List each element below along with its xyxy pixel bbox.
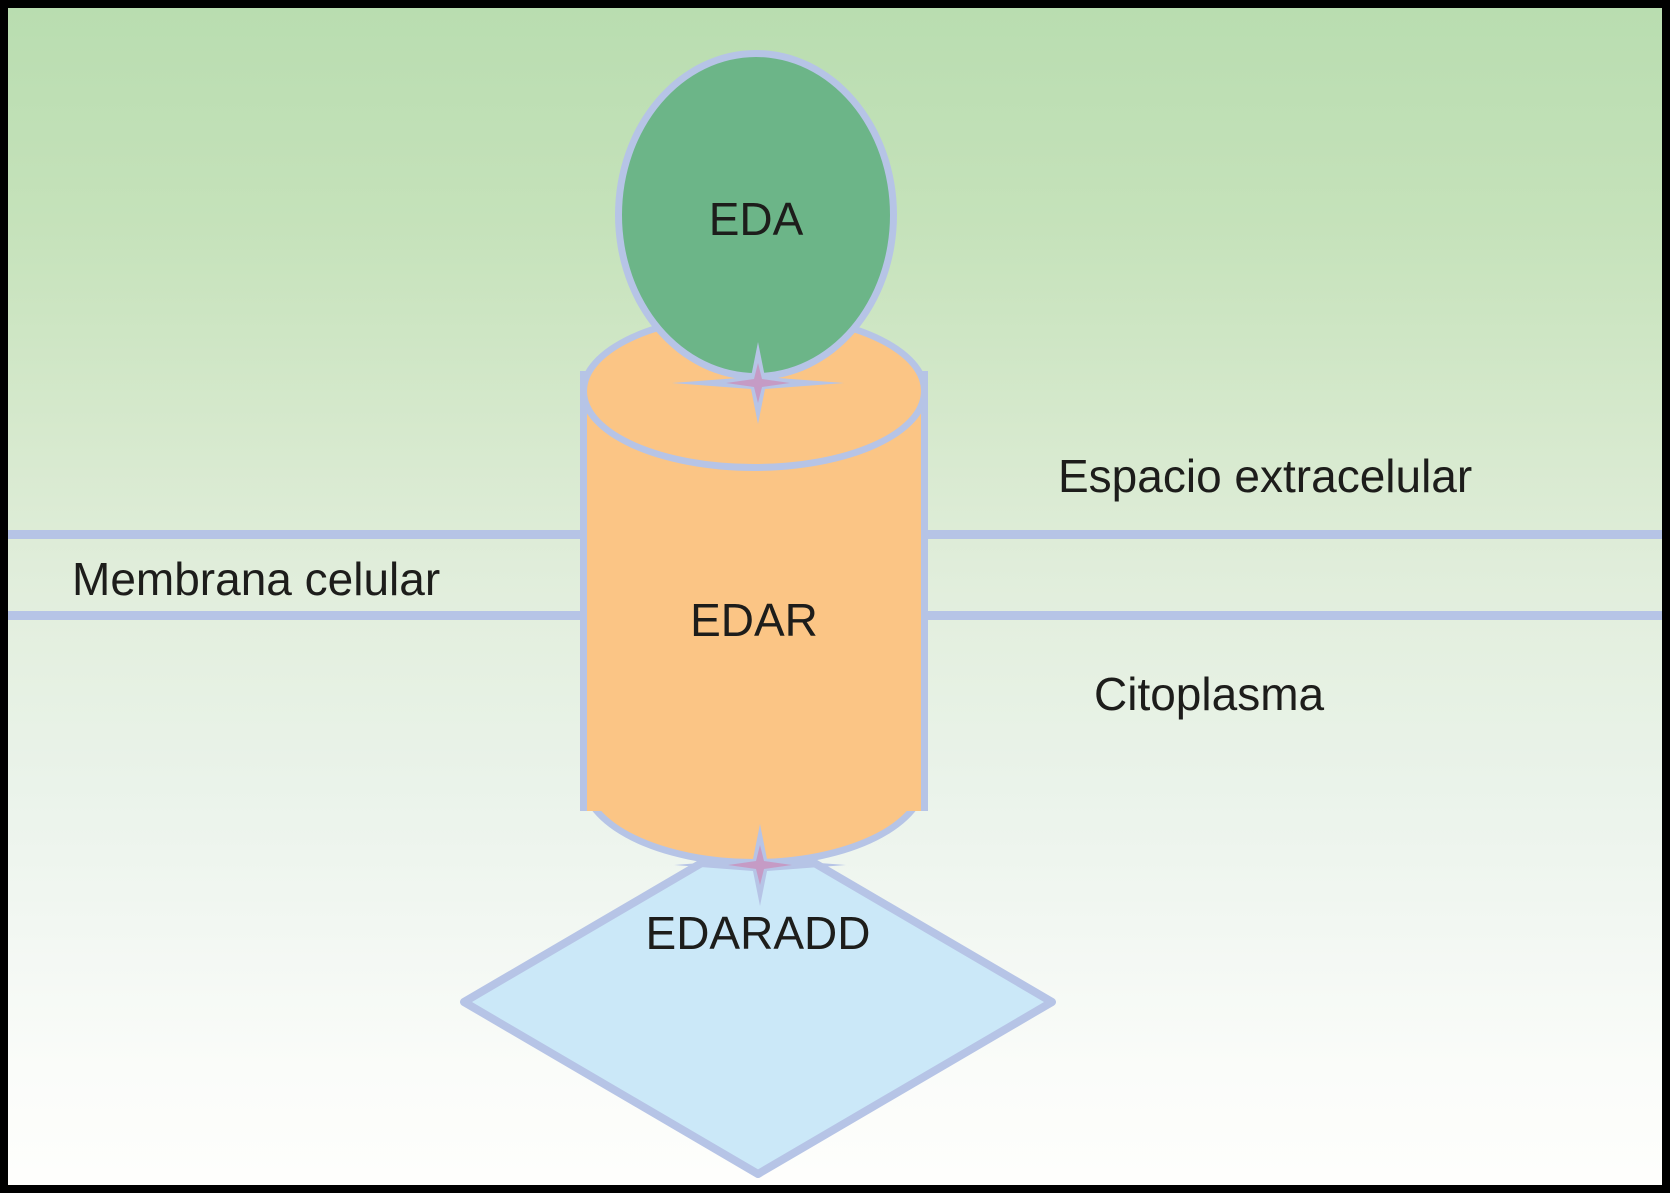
diamond-svg xyxy=(460,826,1056,1178)
edar-receptor-shape[interactable]: EDAR xyxy=(580,311,928,869)
diamond-polygon xyxy=(464,830,1052,1174)
extracellular-space-label: Espacio extracelular xyxy=(1058,453,1472,499)
eda-ligand-shape[interactable]: EDA xyxy=(615,50,897,380)
diagram-canvas: Espacio extracelular Membrana celular Ci… xyxy=(0,0,1670,1193)
edaradd-label: EDARADD xyxy=(460,906,1056,960)
eda-label: EDA xyxy=(709,192,804,246)
cell-membrane-label: Membrana celular xyxy=(72,556,440,602)
cytoplasm-label: Citoplasma xyxy=(1094,671,1324,717)
diagram-inner-canvas: Espacio extracelular Membrana celular Ci… xyxy=(8,8,1662,1185)
edar-label: EDAR xyxy=(580,593,928,647)
edaradd-adaptor-shape[interactable] xyxy=(460,826,1056,1178)
